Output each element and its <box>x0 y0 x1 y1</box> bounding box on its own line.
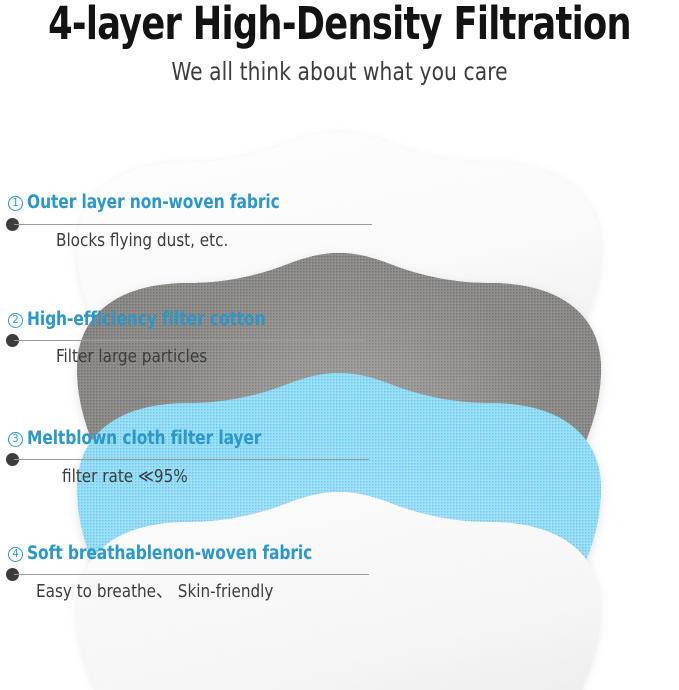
callout-4-leader-line <box>14 574 369 575</box>
callout-4-title: Soft breathablenon-woven fabric <box>27 543 312 565</box>
callout-2-leader-line <box>14 340 366 341</box>
callout-2-heading: 2 High-efficiency filter cotton <box>8 309 283 331</box>
callout-1-heading: 1 Outer layer non-woven fabric <box>8 192 299 214</box>
callout-4-number: 4 <box>8 547 23 562</box>
callout-3-heading: 3 Meltblown cloth filter layer <box>8 428 279 450</box>
callout-1-number: 1 <box>8 196 23 211</box>
callout-2-title: High-efficiency filter cotton <box>27 309 266 331</box>
callout-1-description: Blocks flying dust, etc. <box>56 230 228 252</box>
filtration-infographic: 4-layer High-Density Filtration We all t… <box>0 0 679 690</box>
callout-1-title: Outer layer non-woven fabric <box>27 192 280 214</box>
callout-1-leader-line <box>14 224 372 225</box>
callout-2-number: 2 <box>8 313 23 328</box>
callout-3-leader-line <box>14 459 369 460</box>
callout-4-heading: 4 Soft breathablenon-woven fabric <box>8 543 334 565</box>
callout-3-title: Meltblown cloth filter layer <box>27 428 261 450</box>
callout-4-description: Easy to breathe、 Skin-friendly <box>36 581 273 603</box>
callout-3-number: 3 <box>8 432 23 447</box>
callout-3-description: filter rate ≪95% <box>62 466 188 488</box>
callout-2-description: Filter large particles <box>56 346 207 368</box>
